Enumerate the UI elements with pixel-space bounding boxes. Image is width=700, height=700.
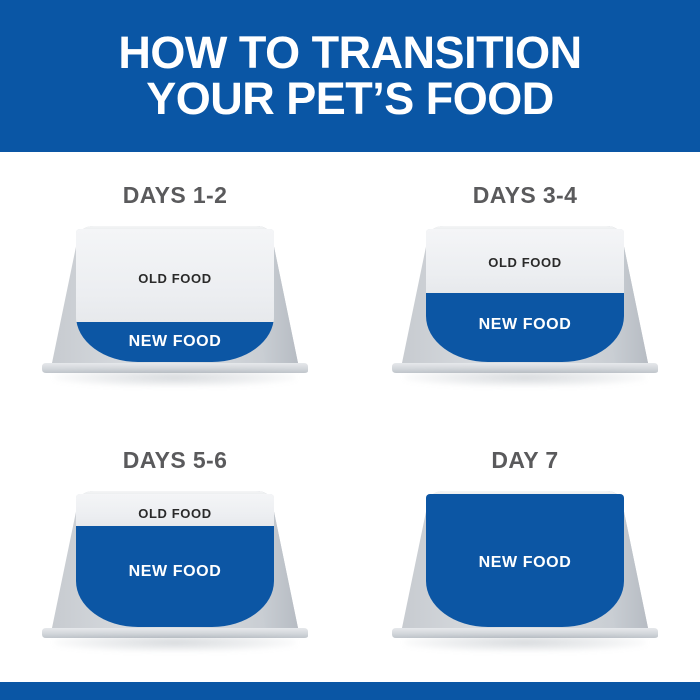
header-title-line-1: HOW TO TRANSITION bbox=[118, 30, 581, 76]
food-well: OLD FOOD NEW FOOD bbox=[76, 494, 274, 627]
new-food-label: NEW FOOD bbox=[426, 554, 624, 572]
transition-stage: DAYS 1-2 bbox=[0, 152, 700, 682]
footer-bar bbox=[0, 682, 700, 700]
panel-days-3-4: DAYS 3-4 bbox=[350, 152, 700, 417]
bowl-shadow bbox=[54, 371, 296, 387]
panel-day-7: DAY 7 bbox=[350, 417, 700, 682]
header-title-line-2: YOUR PET’S FOOD bbox=[146, 76, 554, 122]
panel-title: DAYS 1-2 bbox=[123, 182, 228, 209]
old-food-label: OLD FOOD bbox=[76, 271, 274, 286]
panel-days-5-6: DAYS 5-6 bbox=[0, 417, 350, 682]
old-food-label: OLD FOOD bbox=[426, 255, 624, 270]
food-bowl: OLD FOOD NEW FOOD bbox=[38, 488, 312, 654]
food-bowl: OLD FOOD NEW FOOD bbox=[388, 223, 662, 389]
new-food-label: NEW FOOD bbox=[76, 563, 274, 581]
panel-days-1-2: DAYS 1-2 bbox=[0, 152, 350, 417]
old-food-label: OLD FOOD bbox=[76, 506, 274, 521]
food-bowl: OLD FOOD NEW FOOD bbox=[38, 223, 312, 389]
bowl-shadow bbox=[54, 636, 296, 652]
panel-title: DAYS 3-4 bbox=[473, 182, 578, 209]
food-bowl: NEW FOOD bbox=[388, 488, 662, 654]
panel-title: DAYS 5-6 bbox=[123, 447, 228, 474]
panel-grid: DAYS 1-2 bbox=[0, 152, 700, 682]
food-well: OLD FOOD NEW FOOD bbox=[76, 229, 274, 362]
food-well: NEW FOOD bbox=[426, 494, 624, 627]
food-well: OLD FOOD NEW FOOD bbox=[426, 229, 624, 362]
panel-title: DAY 7 bbox=[491, 447, 558, 474]
new-food-label: NEW FOOD bbox=[426, 316, 624, 334]
bowl-shadow bbox=[404, 636, 646, 652]
new-food-label: NEW FOOD bbox=[76, 333, 274, 351]
bowl-shadow bbox=[404, 371, 646, 387]
header-banner: HOW TO TRANSITION YOUR PET’S FOOD bbox=[0, 0, 700, 152]
